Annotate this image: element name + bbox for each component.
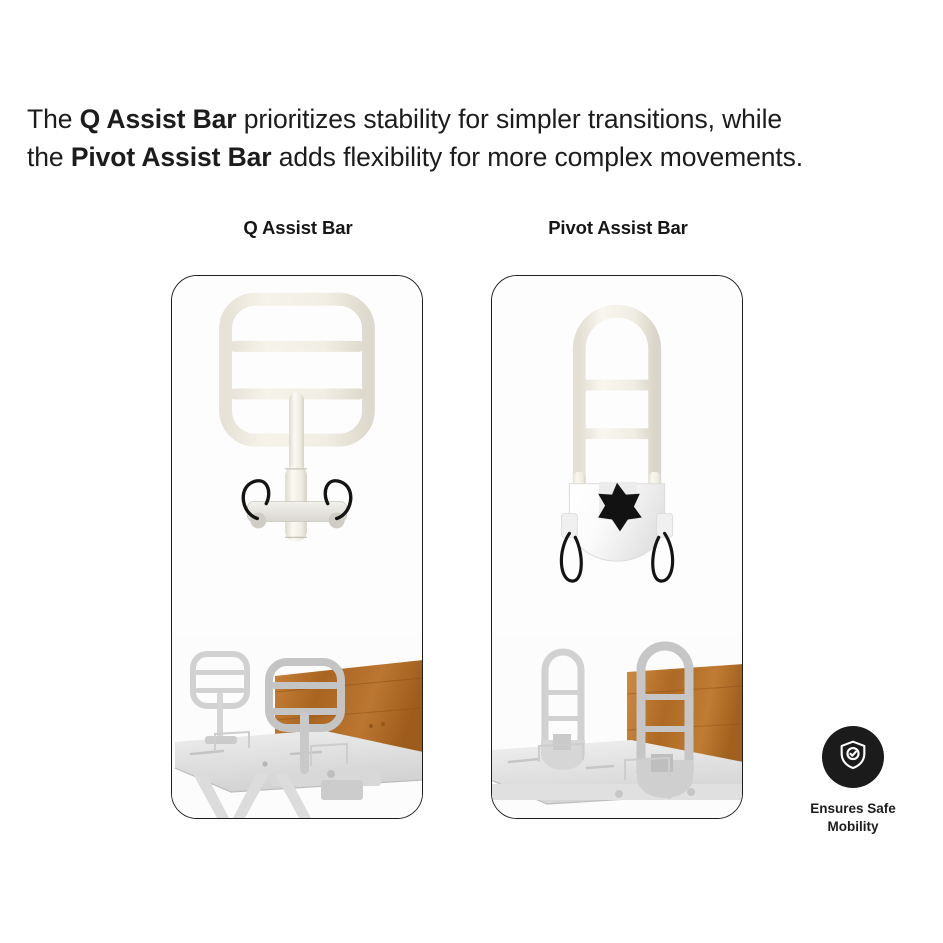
shield-check-icon — [836, 738, 870, 777]
pivot-assist-bar-product-photo — [492, 276, 742, 635]
headline-line1-bold: Q Assist Bar — [80, 104, 237, 134]
q-assist-bar-product-photo — [172, 276, 422, 635]
column-heading-q-assist-bar: Q Assist Bar — [168, 217, 428, 239]
page-headline: The Q Assist Bar prioritizes stability f… — [27, 100, 907, 176]
status-badge: Ensures Safe Mobility — [786, 726, 920, 836]
headline-line1: The Q Assist Bar prioritizes stability f… — [27, 104, 782, 134]
headline-line1-pre: The — [27, 104, 80, 134]
badge-circle — [822, 726, 884, 788]
q-assist-bar-bed-illustration — [172, 634, 422, 818]
q-assist-bar-illustration — [172, 276, 422, 634]
pivot-assist-bar-illustration — [492, 276, 742, 634]
badge-label-line2: Mobility — [828, 819, 879, 834]
product-card-pivot-assist-bar[interactable] — [491, 275, 743, 819]
product-card-q-assist-bar[interactable] — [171, 275, 423, 819]
headline-line2: the Pivot Assist Bar adds flexibility fo… — [27, 142, 803, 172]
headline-line2-pre: the — [27, 142, 71, 172]
badge-label-line1: Ensures Safe — [810, 801, 896, 816]
column-heading-pivot-assist-bar: Pivot Assist Bar — [488, 217, 748, 239]
headline-line2-post: adds flexibility for more complex moveme… — [271, 142, 803, 172]
q-assist-bar-on-bed-photo — [172, 634, 422, 818]
badge-label: Ensures Safe Mobility — [786, 800, 920, 836]
headline-line2-bold: Pivot Assist Bar — [71, 142, 272, 172]
headline-line1-post: prioritizes stability for simpler transi… — [237, 104, 782, 134]
pivot-assist-bar-bed-illustration — [492, 634, 742, 818]
pivot-assist-bar-on-bed-photo — [492, 634, 742, 818]
